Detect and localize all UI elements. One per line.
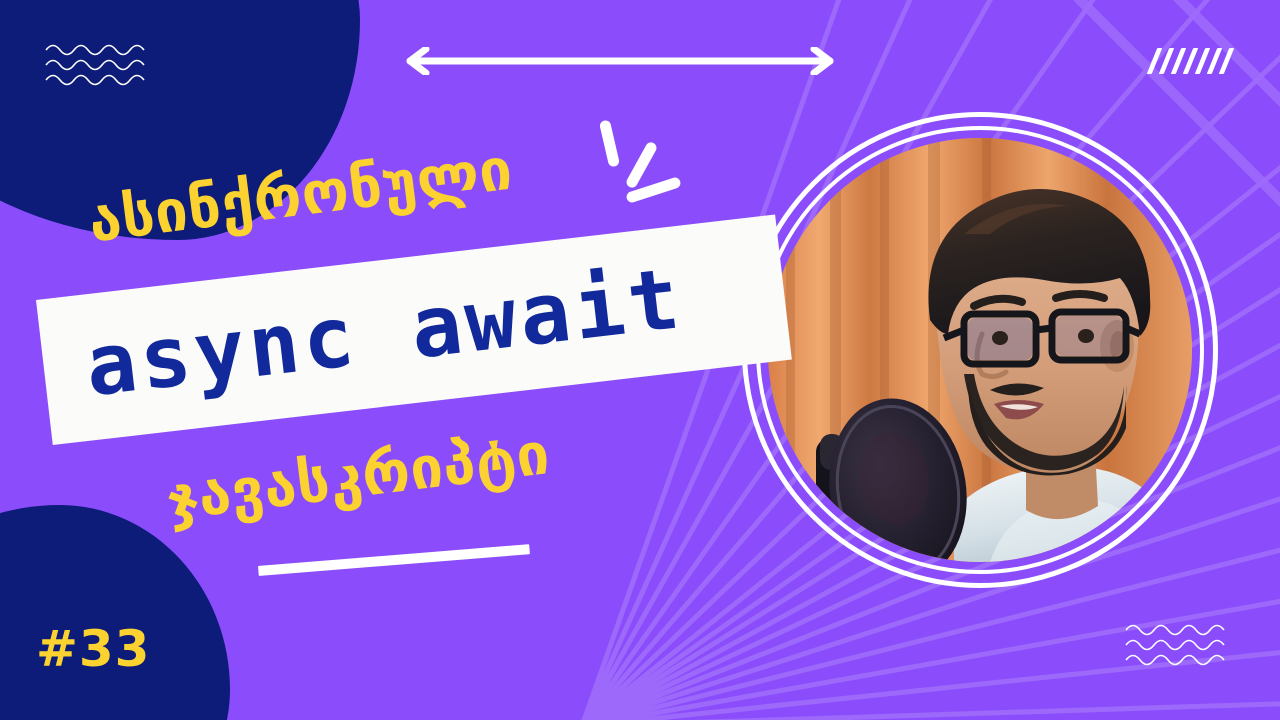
wave-lines-bottom-right-icon	[1124, 622, 1236, 670]
diagonal-slashes-icon	[1152, 48, 1229, 74]
episode-badge: #33	[36, 620, 150, 678]
sparkle-icon	[586, 118, 676, 203]
double-headed-arrow-icon	[396, 47, 844, 75]
avatar-ring-outer	[742, 112, 1218, 588]
thumbnail-canvas: ასინქრონული async await ჯავასკრიპტი #33	[0, 0, 1280, 720]
wave-lines-top-left-icon	[44, 42, 156, 90]
avatar	[742, 112, 1218, 588]
